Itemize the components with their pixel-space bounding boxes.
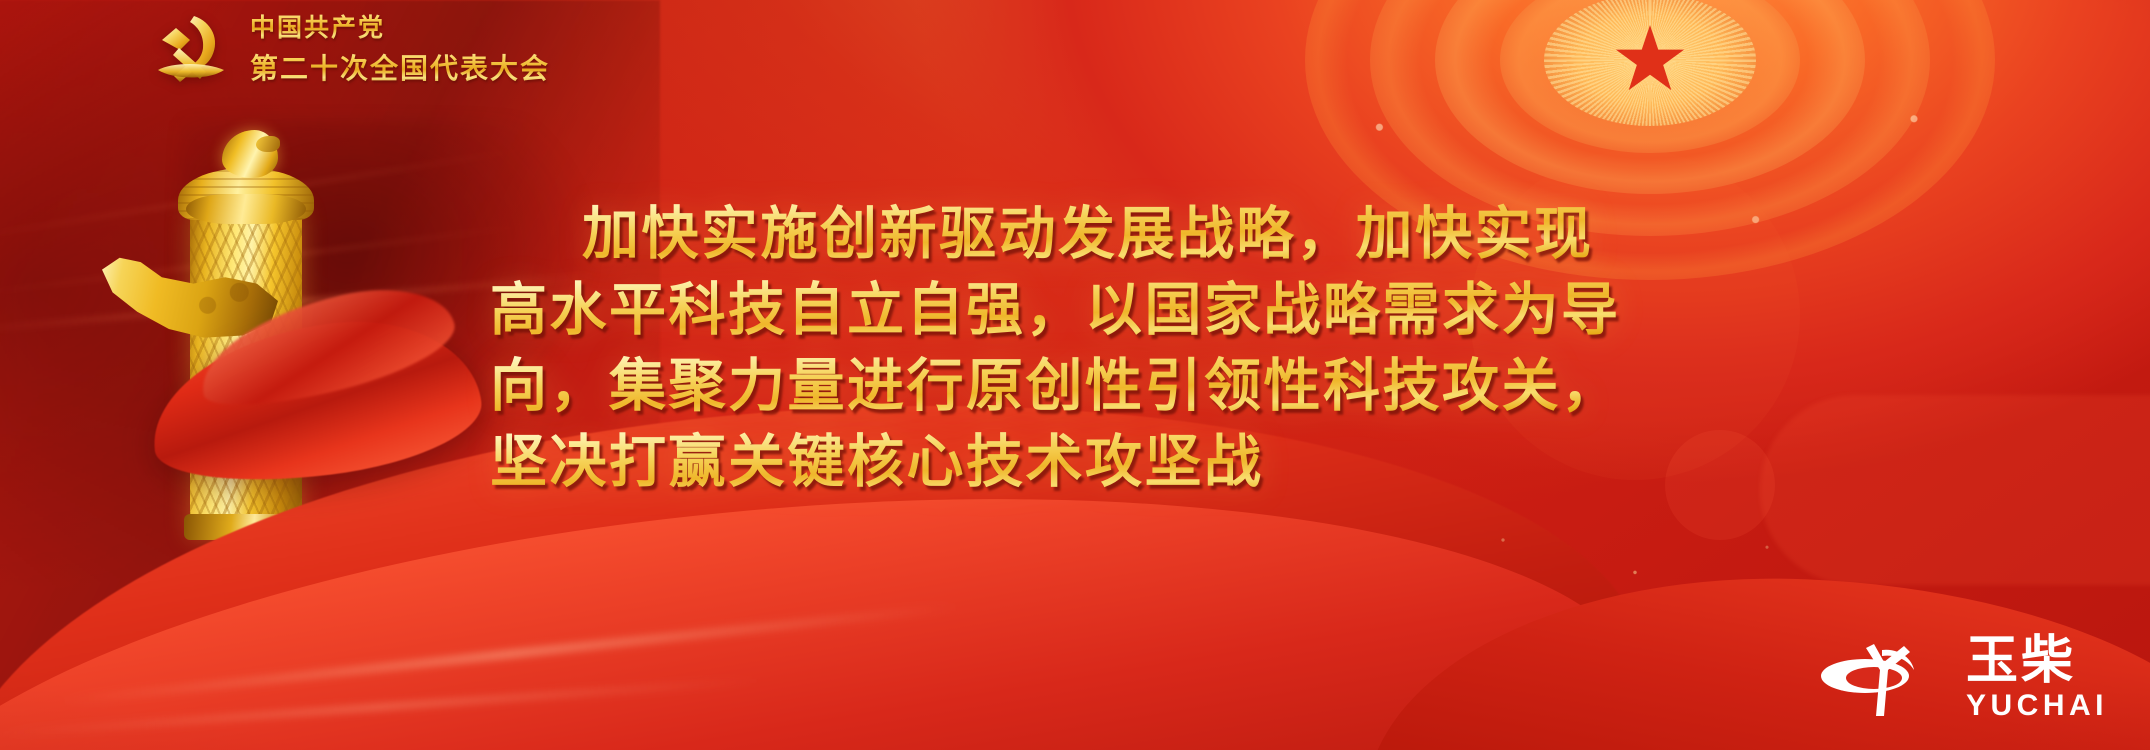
huabiao-beast-icon: [222, 130, 278, 178]
ambient-blob: [1760, 395, 2150, 585]
yuchai-cn-name: 玉柴: [1966, 633, 2076, 689]
congress-title-line1: 中国共产党: [250, 8, 550, 44]
slogan-line-3: 向，集聚力量进行原创性引领性科技攻关，: [490, 348, 1720, 424]
congress-emblem-block: 中国共产党 第二十次全国代表大会: [150, 8, 550, 87]
red-star-icon: [1615, 25, 1685, 95]
hammer-and-sickle-icon: [150, 10, 234, 86]
slogan-line-1: 加快实施创新驱动发展战略，加快实现: [490, 196, 1720, 272]
rosette-core: [1544, 0, 1756, 126]
yuchai-logo: 玉柴 YUCHAI: [1818, 633, 2108, 722]
yuchai-swoosh-icon: [1818, 636, 1944, 720]
slogan-line-2: 高水平科技自立自强，以国家战略需求为导: [490, 272, 1720, 348]
yuchai-en-name: YUCHAI: [1966, 690, 2108, 722]
congress-title-line2: 第二十次全国代表大会: [250, 47, 550, 87]
slogan-text-block: 加快实施创新驱动发展战略，加快实现 高水平科技自立自强，以国家战略需求为导 向，…: [490, 196, 1720, 500]
party-congress-banner: 中国共产党 第二十次全国代表大会 加快实施创新驱动发展战略，加快实现 高水平科技…: [0, 0, 2150, 750]
slogan-line-4: 坚决打赢关键核心技术攻坚战: [490, 424, 1720, 500]
